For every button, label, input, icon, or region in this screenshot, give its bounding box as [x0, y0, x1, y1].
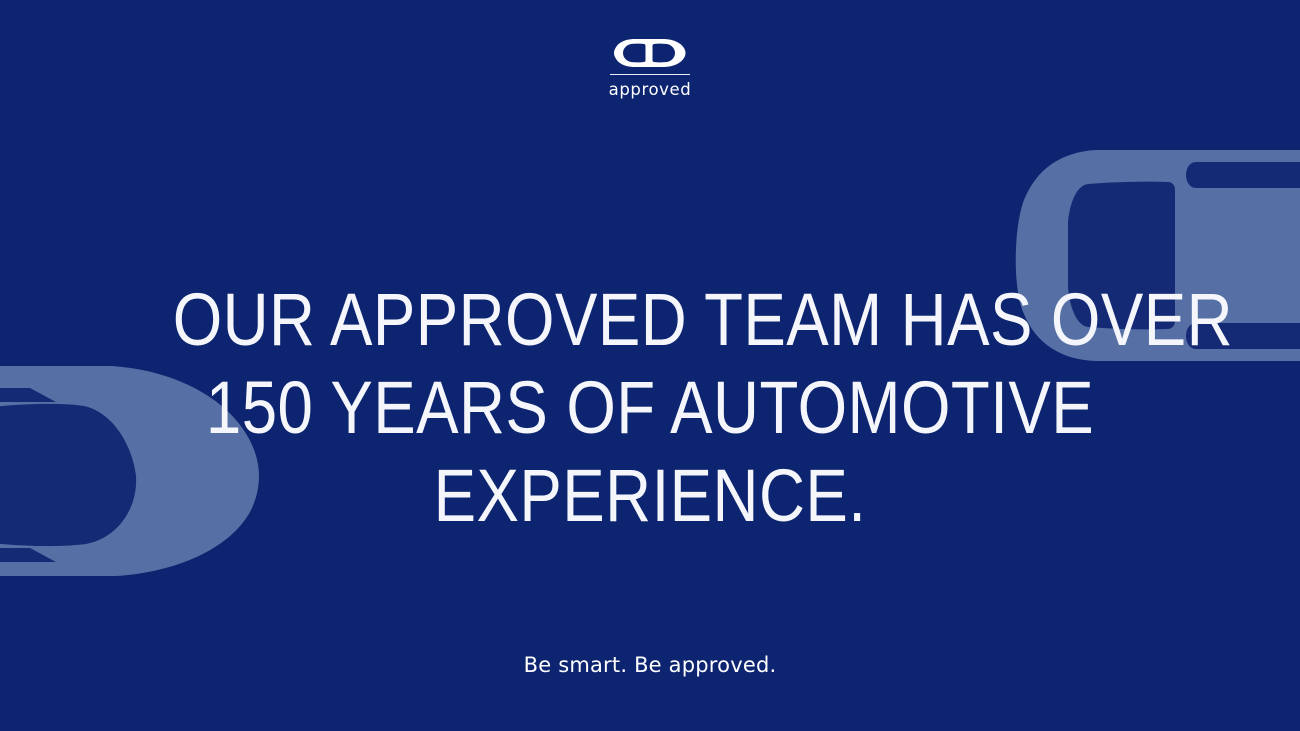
car-top-view-icon	[613, 38, 687, 68]
slide-canvas: approved OUR APPROVED TEAM HAS OVER 150 …	[0, 0, 1300, 731]
tagline: Be smart. Be approved.	[0, 653, 1300, 677]
headline-line-2: 150 YEARS OF AUTOMOTIVE	[173, 364, 1128, 452]
headline-line-3: EXPERIENCE.	[173, 452, 1128, 540]
brand-logo: approved	[0, 38, 1300, 99]
logo-divider-rule	[610, 74, 690, 75]
headline-line-1: OUR APPROVED TEAM HAS OVER	[173, 276, 1128, 364]
headline: OUR APPROVED TEAM HAS OVER 150 YEARS OF …	[95, 276, 1205, 540]
logo-wordmark: approved	[609, 80, 692, 99]
